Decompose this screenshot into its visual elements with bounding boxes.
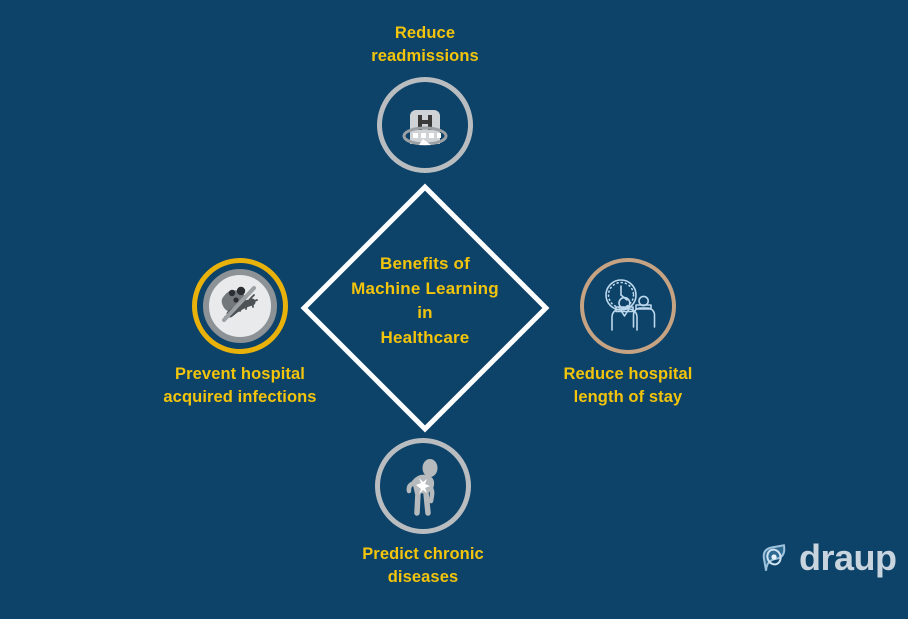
infographic-slide: Benefits of Machine Learning in Healthca… — [0, 0, 908, 619]
node-ring-reduce-length-of-stay[interactable] — [580, 258, 676, 354]
node-label-line-2: diseases — [323, 566, 523, 589]
node-label-reduce-length-of-stay: Reduce hospital length of stay — [528, 363, 728, 410]
node-label-line-2: length of stay — [528, 386, 728, 409]
no-germs-icon — [210, 276, 270, 336]
node-label-line-1: Reduce — [325, 22, 525, 45]
node-ring-reduce-readmissions[interactable] — [377, 77, 473, 173]
node-predict-chronic-diseases[interactable]: Predict chronic diseases — [323, 438, 523, 590]
draup-logo[interactable]: draup — [757, 540, 897, 576]
node-label-line-1: Reduce hospital — [528, 363, 728, 386]
center-title-line-4: Healthcare — [310, 326, 540, 351]
node-reduce-readmissions[interactable]: Reduce readmissions — [325, 22, 525, 173]
node-label-line-2: readmissions — [325, 45, 525, 68]
node-ring-prevent-infections[interactable] — [192, 258, 288, 354]
draup-wordmark: draup — [799, 540, 897, 576]
center-title-line-2: Machine Learning — [310, 277, 540, 302]
center-title: Benefits of Machine Learning in Healthca… — [310, 252, 540, 351]
node-ring-predict-chronic-diseases[interactable] — [375, 438, 471, 534]
node-label-line-1: Predict chronic — [323, 543, 523, 566]
center-title-line-3: in — [310, 301, 540, 326]
node-prevent-infections[interactable]: Prevent hospital acquired infections — [140, 258, 340, 410]
node-reduce-length-of-stay[interactable]: Reduce hospital length of stay — [528, 258, 728, 410]
germ-disc — [203, 269, 277, 343]
node-label-predict-chronic-diseases: Predict chronic diseases — [323, 543, 523, 590]
back-pain-person-icon — [394, 455, 452, 517]
node-label-line-2: acquired infections — [140, 386, 340, 409]
node-label-prevent-infections: Prevent hospital acquired infections — [140, 363, 340, 410]
center-title-line-1: Benefits of — [310, 252, 540, 277]
hospital-building-icon — [394, 94, 456, 156]
node-label-line-1: Prevent hospital — [140, 363, 340, 386]
node-label-reduce-readmissions: Reduce readmissions — [325, 22, 525, 69]
draup-leaf-mark-icon — [757, 540, 793, 576]
patients-clock-icon — [595, 275, 661, 337]
